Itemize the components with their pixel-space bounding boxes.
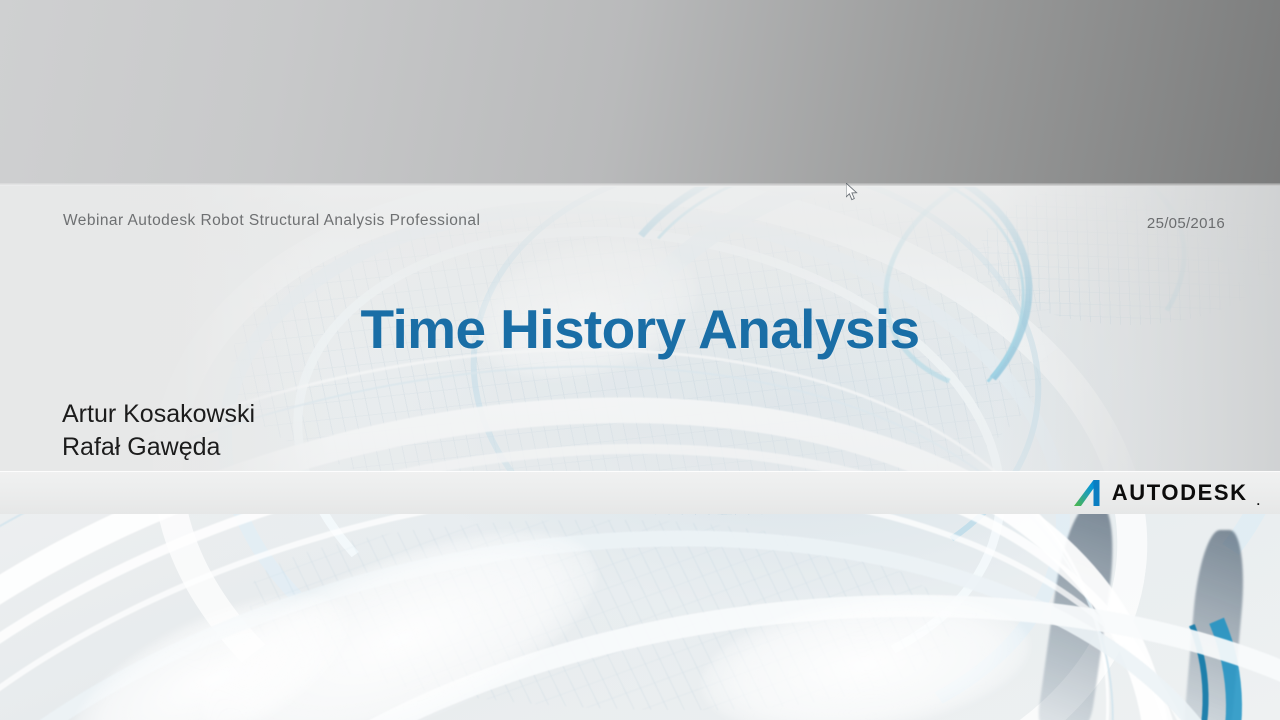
webinar-subtitle: Webinar Autodesk Robot Structural Analys… [63,212,480,230]
autodesk-wordmark: AUTODESK [1112,482,1248,504]
presentation-slide: Webinar Autodesk Robot Structural Analys… [0,0,1280,720]
page-title: Time History Analysis [0,297,1280,361]
presenter-name-2: Rafał Gawęda [62,431,255,464]
autodesk-trademark-dot: . [1257,494,1260,510]
autodesk-logo: AUTODESK . [1073,476,1260,510]
top-gray-band [0,0,1280,186]
mouse-pointer-icon [846,183,859,202]
presenter-list: Artur Kosakowski Rafał Gawęda [62,398,255,464]
slide-date: 25/05/2016 [1147,215,1225,232]
presenter-name-1: Artur Kosakowski [62,398,255,431]
autodesk-a-logo-icon [1073,479,1103,507]
